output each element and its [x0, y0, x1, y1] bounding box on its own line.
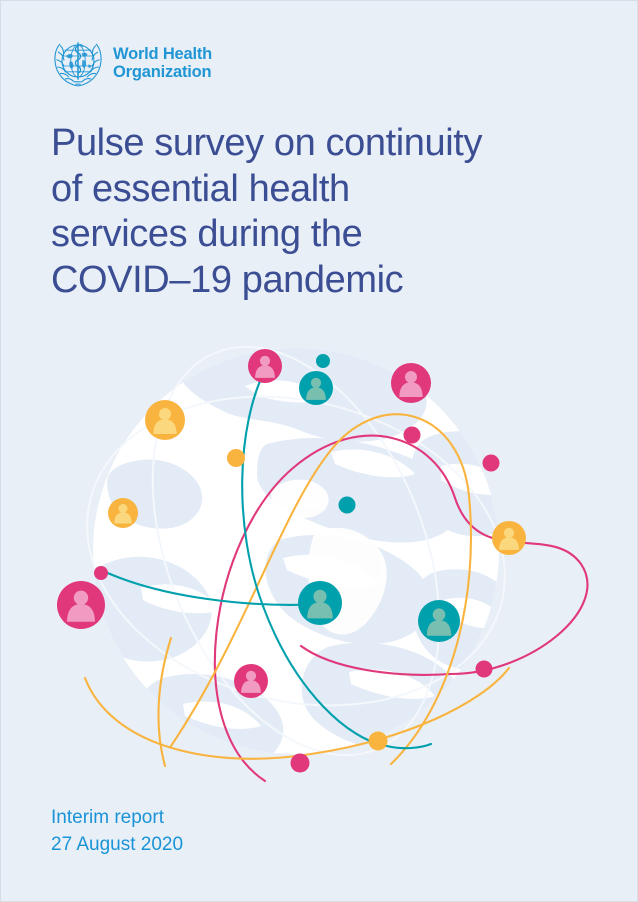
avatar-amber-right [492, 521, 526, 555]
report-title: Pulse survey on continuity of essential … [51, 121, 571, 303]
dot-teal-center [339, 497, 356, 514]
who-wordmark: World Health Organization [113, 45, 212, 80]
dot-amber-bottom [369, 732, 388, 751]
avatar-pink-large-left [57, 581, 105, 629]
who-emblem-icon [51, 37, 105, 89]
report-date-label: 27 August 2020 [51, 832, 183, 859]
avatar-amber-left [108, 498, 138, 528]
cover-footer: Interim report 27 August 2020 [51, 805, 183, 859]
avatar-pink-top-right [391, 363, 431, 403]
avatar-teal-top [299, 371, 333, 405]
dot-pink-right [483, 455, 500, 472]
dot-pink-upper [404, 427, 421, 444]
connected-globe-illustration [31, 326, 611, 786]
dot-pink-small-left [94, 566, 108, 580]
dot-pink-lower-right [476, 661, 493, 678]
avatar-teal-right [418, 600, 460, 642]
who-wordmark-line1: World Health [113, 46, 212, 63]
globe-sphere [54, 326, 538, 786]
avatar-teal-center [298, 581, 342, 625]
dot-pink-bottom [291, 754, 310, 773]
dot-teal-top [316, 354, 330, 368]
avatar-amber-upper-left [145, 400, 185, 440]
report-type-label: Interim report [51, 805, 183, 832]
dot-amber-upper [227, 449, 245, 467]
who-wordmark-line2: Organization [113, 64, 212, 81]
report-cover-page: World Health Organization Pulse survey o… [0, 0, 638, 902]
avatar-pink-top [248, 349, 282, 383]
who-logo: World Health Organization [51, 37, 212, 89]
avatar-pink-bottom [234, 664, 268, 698]
